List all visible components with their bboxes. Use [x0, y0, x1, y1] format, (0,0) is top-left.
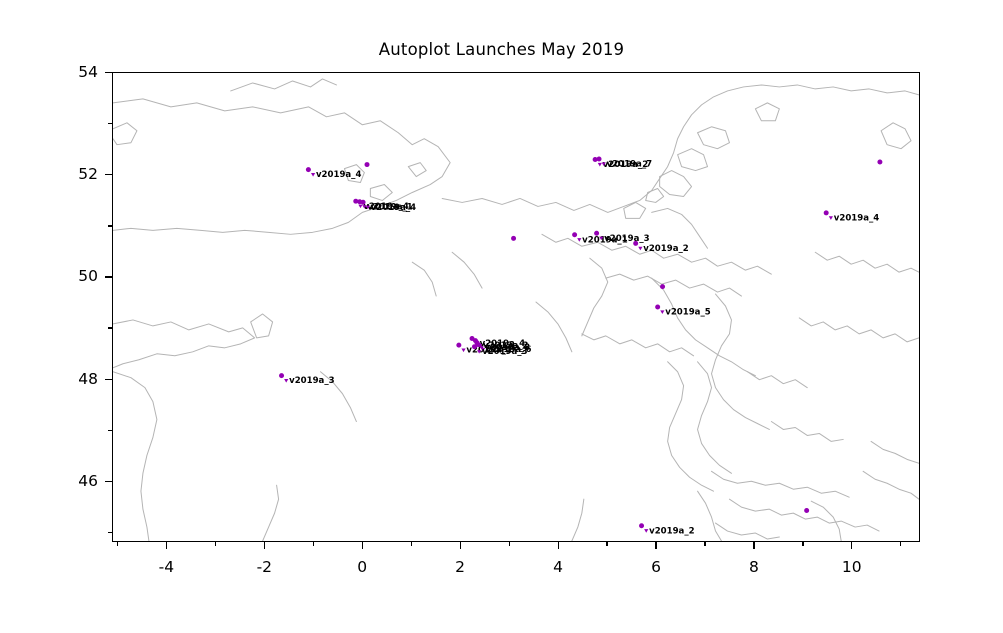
label-marker-glyph — [598, 163, 602, 167]
label-marker-glyph — [829, 216, 833, 220]
x-minor-tick-7 — [704, 542, 705, 546]
x-tick-label-8: 8 — [749, 558, 759, 576]
launch-point-label: v2019a_2 — [644, 526, 695, 536]
launch-marker — [572, 232, 577, 237]
label-marker-glyph — [358, 205, 362, 209]
axes-frame: v2019a_4v2019a_4v2019a_1v2019a_4v2019a_2… — [112, 72, 920, 542]
launch-marker — [660, 284, 665, 289]
x-minor-tick-1 — [411, 542, 412, 546]
launch-marker — [279, 373, 284, 378]
x-tick-label-2: 2 — [455, 558, 465, 576]
y-tick-label-52: 52 — [58, 165, 98, 183]
launch-point-label: v2019a_3 — [599, 234, 650, 244]
y-tick-52 — [105, 174, 112, 175]
y-minor-tick-53 — [108, 123, 112, 124]
y-tick-label-48: 48 — [58, 370, 98, 388]
y-tick-48 — [105, 379, 112, 380]
scatter-points-layer: v2019a_4v2019a_4v2019a_1v2019a_4v2019a_2… — [113, 73, 919, 541]
x-tick-label-0: 0 — [357, 558, 367, 576]
launch-marker — [306, 167, 311, 172]
launch-point-label: v2019a_7 — [602, 160, 653, 170]
x-tick-2 — [460, 542, 461, 549]
launch-marker — [456, 343, 461, 348]
launch-point-label: v2019a_4 — [829, 213, 880, 223]
launch-label-text: v2019a_5 — [665, 308, 711, 318]
y-minor-tick-47 — [108, 430, 112, 431]
x-minor-tick--5 — [117, 542, 118, 546]
x-tick--2 — [264, 542, 265, 549]
y-minor-tick-49 — [108, 327, 112, 328]
x-tick-4 — [558, 542, 559, 549]
launch-marker — [597, 156, 602, 161]
x-tick-label--2: -2 — [257, 558, 272, 576]
launch-marker — [655, 305, 660, 310]
launch-point-label: v2019a_4 — [311, 170, 362, 180]
x-tick-10 — [851, 542, 852, 549]
label-marker-glyph — [660, 310, 664, 314]
x-tick-0 — [362, 542, 363, 549]
launch-marker — [594, 231, 599, 236]
label-marker-glyph — [461, 349, 465, 353]
label-marker-glyph — [577, 238, 581, 242]
launch-marker — [639, 523, 644, 528]
launch-point-label: v2019a_3 — [477, 347, 528, 357]
launch-label-text: v2019a_3 — [289, 376, 335, 386]
x-tick-8 — [753, 542, 754, 549]
x-tick--4 — [166, 542, 167, 549]
matplotlib-figure: Autoplot Launches May 2019 — [0, 0, 1003, 633]
x-tick-label-10: 10 — [842, 558, 862, 576]
launch-marker — [361, 200, 366, 205]
x-minor-tick--1 — [313, 542, 314, 546]
x-minor-tick--3 — [215, 542, 216, 546]
y-tick-46 — [105, 481, 112, 482]
x-tick-label-4: 4 — [553, 558, 563, 576]
y-tick-label-46: 46 — [58, 472, 98, 490]
x-minor-tick-5 — [606, 542, 607, 546]
page-title: Autoplot Launches May 2019 — [0, 40, 1003, 59]
launch-marker — [472, 344, 477, 349]
y-tick-label-50: 50 — [58, 267, 98, 285]
launch-label-text: v2019a_4 — [834, 213, 880, 223]
launch-marker — [365, 162, 370, 167]
launch-marker — [877, 160, 882, 165]
launch-label-text: v2019a_4 — [316, 170, 362, 180]
launch-label-text: v2019a_2 — [649, 526, 695, 536]
y-tick-54 — [105, 72, 112, 73]
launch-point-label: v2019a_3 — [284, 376, 335, 386]
x-minor-tick-11 — [900, 542, 901, 546]
launch-label-text: v2019a_2 — [643, 244, 689, 254]
x-tick-6 — [655, 542, 656, 549]
label-marker-glyph — [638, 247, 642, 251]
launch-label-text: v2019a_4 — [371, 203, 417, 213]
launch-marker — [804, 508, 809, 513]
y-tick-50 — [105, 276, 112, 277]
map-axes: v2019a_4v2019a_4v2019a_1v2019a_4v2019a_2… — [112, 72, 920, 542]
y-tick-label-54: 54 — [58, 63, 98, 81]
launch-point-label: v2019a_2 — [638, 244, 689, 254]
launch-marker — [633, 241, 638, 246]
label-marker-glyph — [284, 379, 288, 383]
x-tick-label--4: -4 — [159, 558, 174, 576]
launch-label-text: v2019a_3 — [604, 234, 650, 244]
launch-marker — [511, 236, 516, 241]
launch-label-text: v2019a_7 — [607, 160, 653, 170]
y-minor-tick-51 — [108, 225, 112, 226]
x-minor-tick-9 — [802, 542, 803, 546]
y-minor-tick-45 — [108, 532, 112, 533]
launch-point-label: v2019a_4 — [366, 203, 417, 213]
x-tick-label-6: 6 — [651, 558, 661, 576]
launch-marker — [824, 210, 829, 215]
launch-label-text: v2019a_3 — [482, 347, 528, 357]
label-marker-glyph — [644, 529, 648, 533]
launch-point-label: v2019a_5 — [660, 308, 711, 318]
x-minor-tick-3 — [509, 542, 510, 546]
label-marker-glyph — [311, 173, 315, 177]
